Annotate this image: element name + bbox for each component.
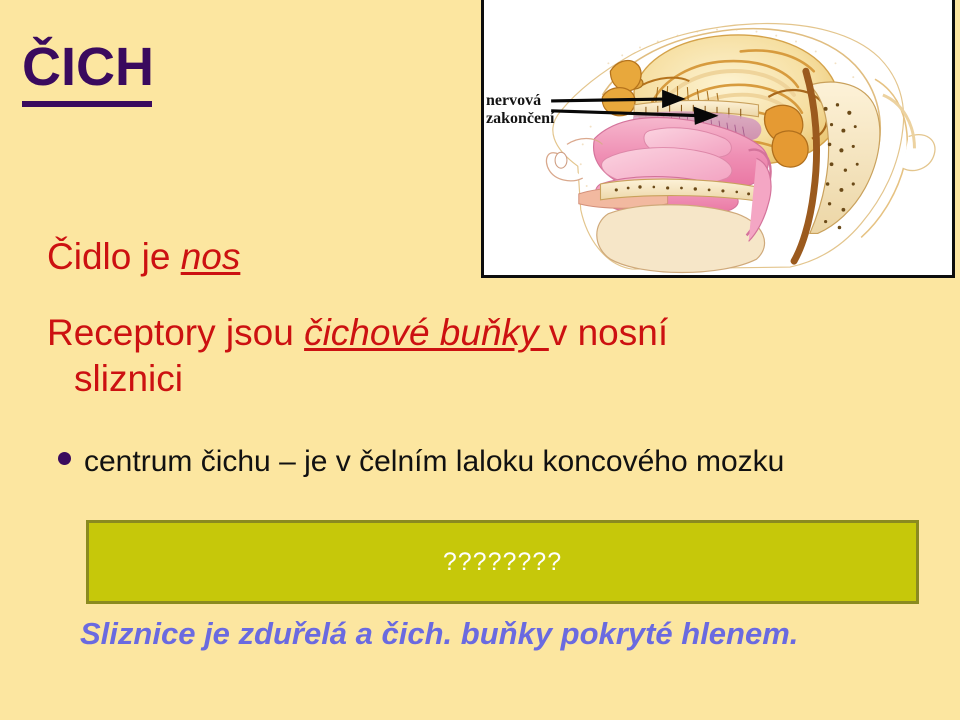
receptors-emphasis: čichové buňky (304, 312, 549, 353)
figure-label: nervová zakončení (486, 92, 554, 128)
presentation-slide: ČICH (0, 0, 960, 720)
figure-label-line2: zakončení (486, 110, 554, 128)
bullet-marker-icon (58, 452, 71, 465)
body-line-receptors: Receptory jsou čichové buňky v nosní sli… (47, 310, 837, 402)
question-marks-text: ???????? (443, 550, 562, 575)
figure-label-line1: nervová (486, 92, 554, 110)
sensor-text-plain: Čidlo je (47, 236, 181, 277)
body-line-sensor: Čidlo je nos (47, 234, 240, 280)
anatomy-illustration: nervová zakončení (481, 0, 955, 278)
page-title: ČICH (22, 40, 154, 94)
nasal-cavity-diagram (484, 0, 952, 275)
bullet-list: centrum čichu – je v čelním laloku konco… (58, 440, 888, 483)
question-placeholder-box[interactable]: ???????? (86, 520, 919, 604)
list-item: centrum čichu – je v čelním laloku konco… (84, 440, 888, 483)
page-title-underline (22, 101, 152, 107)
receptors-suffix: v nosní (549, 312, 668, 353)
closing-note: Sliznice je zduřelá a čich. buňky pokryt… (80, 612, 900, 656)
receptors-continuation: sliznici (47, 356, 837, 402)
sensor-text-emphasis: nos (181, 236, 241, 277)
receptors-prefix: Receptory jsou (47, 312, 304, 353)
